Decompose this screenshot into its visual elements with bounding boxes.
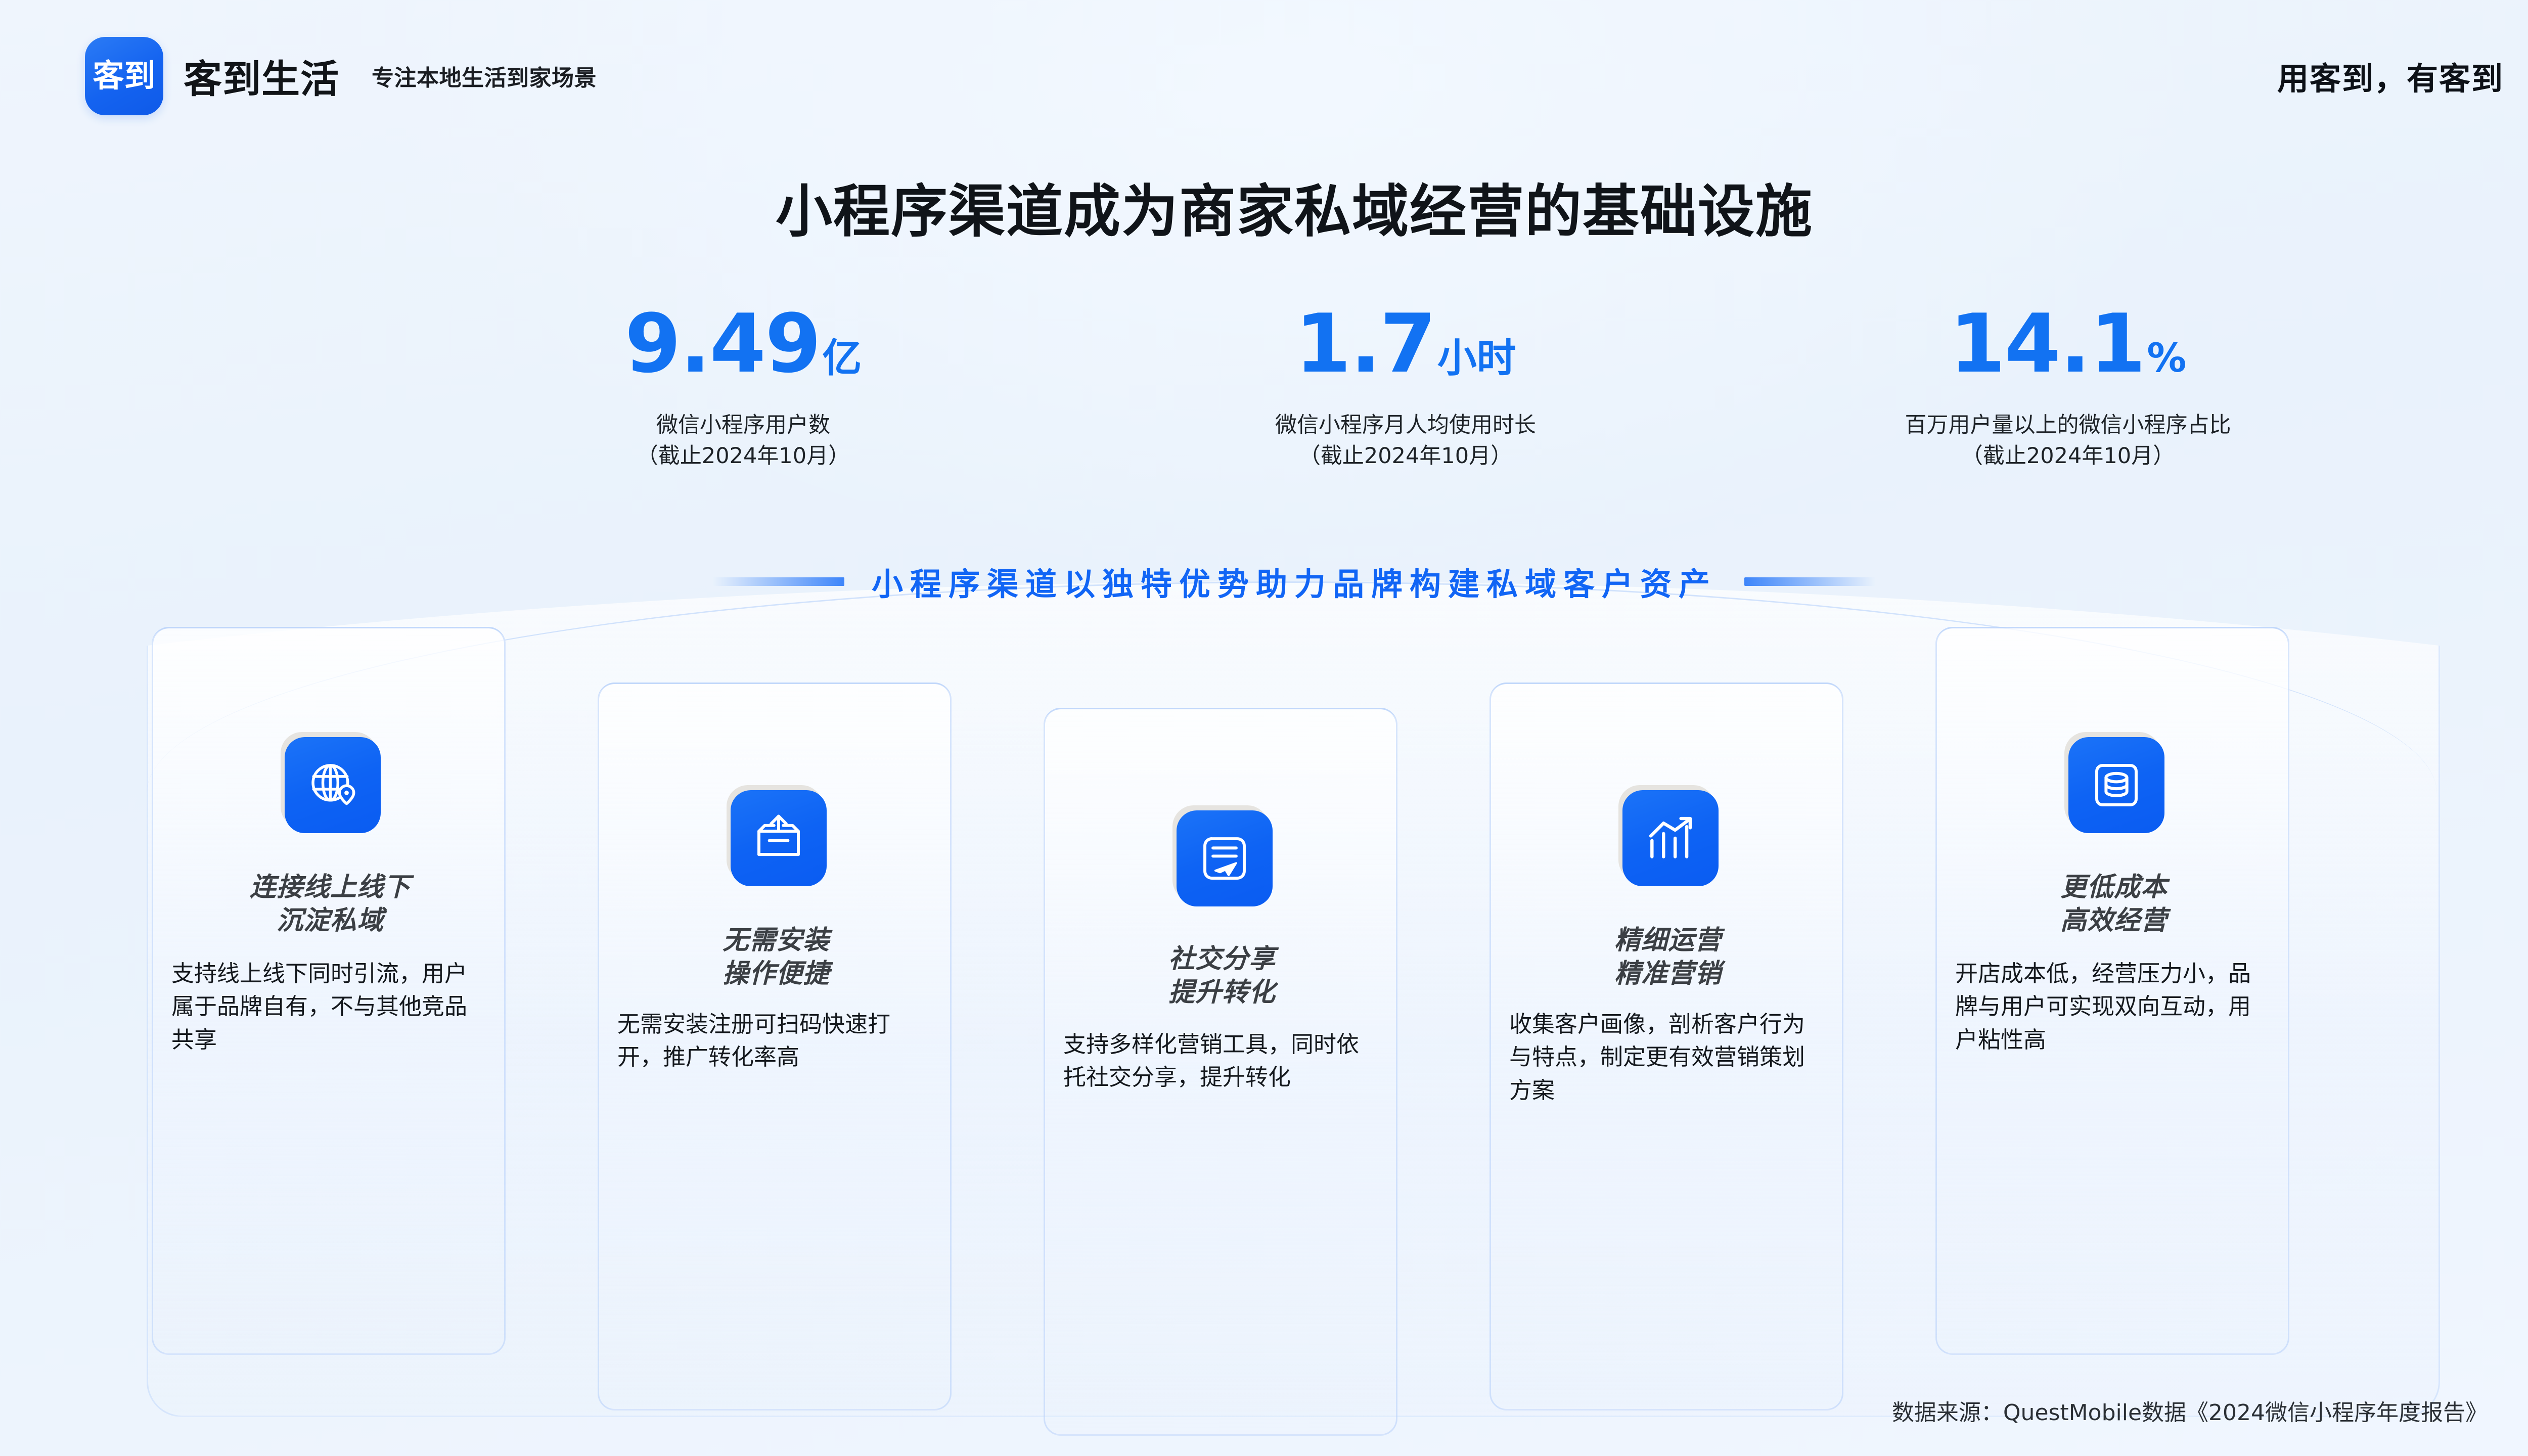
banner-rule-left-icon (713, 577, 844, 586)
feature-card[interactable]: 无需安装 操作便捷 无需安装注册可扫码快速打开，推广转化率高 (598, 682, 952, 1410)
stat-unit: 小时 (1437, 339, 1516, 378)
stat-item: 1.7 小时 微信小程序月人均使用时长 （截止2024年10月） (1107, 303, 1704, 472)
icon-shadow (2064, 732, 2160, 828)
feature-card[interactable]: 连接线上线下 沉淀私域 支持线上线下同时引流，用户属于品牌自有，不与其他竞品共享 (152, 627, 506, 1355)
card-description: 支持线上线下同时引流，用户属于品牌自有，不与其他竞品共享 (171, 957, 489, 1056)
stat-caption-line2: （截止2024年10月） (1107, 441, 1704, 472)
stat-caption: 微信小程序月人均使用时长 （截止2024年10月） (1107, 410, 1704, 472)
stat-item: 14.1 % 百万用户量以上的微信小程序占比 （截止2024年10月） (1770, 303, 2366, 472)
icon-shadow (1172, 805, 1269, 901)
stat-unit: % (2147, 339, 2186, 378)
feature-card[interactable]: 社交分享 提升转化 支持多样化营销工具，同时依托社交分享，提升转化 (1044, 708, 1397, 1436)
card-title: 无需安装 操作便捷 (599, 924, 953, 990)
card-description: 支持多样化营销工具，同时依托社交分享，提升转化 (1063, 1028, 1381, 1094)
feature-card[interactable]: 更低成本 高效经营 开店成本低，经营压力小，品牌与用户可实现双向互动，用户粘性高 (1935, 627, 2289, 1355)
card-description: 收集客户画像，剖析客户行为与特点，制定更有效营销策划方案 (1509, 1008, 1827, 1107)
stat-unit: 亿 (822, 339, 862, 378)
card-title-line2: 操作便捷 (599, 958, 953, 991)
card-title-line1: 社交分享 (1045, 943, 1399, 976)
icon-shadow (281, 732, 377, 828)
globe-location-icon (285, 737, 381, 833)
card-title-line1: 更低成本 (1937, 871, 2291, 904)
stat-caption-line2: （截止2024年10月） (445, 441, 1042, 472)
card-title-line2: 精准营销 (1491, 958, 1845, 991)
banner-rule-right-icon (1744, 577, 1876, 586)
stats-row: 9.49 亿 微信小程序用户数 （截止2024年10月） 1.7 小时 微信小程… (445, 303, 2366, 472)
stat-caption: 微信小程序用户数 （截止2024年10月） (445, 410, 1042, 472)
bar-chart-trend-icon (1622, 790, 1719, 886)
page-title: 小程序渠道成为商家私域经营的基础设施 (0, 166, 2528, 248)
section-banner: 小程序渠道以独特优势助力品牌构建私域客户资产 (0, 554, 2528, 609)
card-title: 连接线上线下 沉淀私域 (153, 871, 507, 937)
card-description: 开店成本低，经营压力小，品牌与用户可实现双向互动，用户粘性高 (1955, 957, 2273, 1056)
section-banner-title: 小程序渠道以独特优势助力品牌构建私域客户资产 (872, 559, 1717, 604)
logo-badge-label: 客到 (93, 60, 155, 92)
stat-value: 9.49 亿 (445, 303, 1042, 397)
feature-cards: 连接线上线下 沉淀私域 支持线上线下同时引流，用户属于品牌自有，不与其他竞品共享… (0, 627, 2528, 1416)
stat-caption-line1: 微信小程序月人均使用时长 (1107, 410, 1704, 441)
card-title-line2: 提升转化 (1045, 976, 1399, 1010)
card-title-line1: 精细运营 (1491, 924, 1845, 958)
card-title: 社交分享 提升转化 (1045, 943, 1399, 1009)
share-send-card-icon (1177, 810, 1273, 906)
data-source-note: 数据来源：QuestMobile数据《2024微信小程序年度报告》 (1892, 1394, 2488, 1427)
stat-item: 9.49 亿 微信小程序用户数 （截止2024年10月） (445, 303, 1042, 472)
card-title-line2: 高效经营 (1937, 904, 2291, 938)
stat-number: 14.1 (1950, 303, 2145, 384)
page-header: 客到 客到生活 专注本地生活到家场景 用客到，有客到 (0, 0, 2528, 152)
stat-value: 1.7 小时 (1107, 303, 1704, 397)
card-description: 无需安装注册可扫码快速打开，推广转化率高 (617, 1008, 935, 1074)
card-title-line1: 连接线上线下 (153, 871, 507, 904)
icon-shadow (1618, 785, 1714, 881)
card-title-line1: 无需安装 (599, 924, 953, 958)
logo-badge: 客到 (85, 37, 163, 115)
card-title: 精细运营 精准营销 (1491, 924, 1845, 990)
stat-caption-line1: 百万用户量以上的微信小程序占比 (1770, 410, 2366, 441)
stat-number: 1.7 (1295, 303, 1435, 384)
brand-slogan: 专注本地生活到家场景 (372, 60, 597, 92)
stat-caption-line1: 微信小程序用户数 (445, 410, 1042, 441)
brand-tagline: 用客到，有客到 (2277, 53, 2504, 99)
brand-name: 客到生活 (184, 48, 339, 104)
card-title: 更低成本 高效经营 (1937, 871, 2291, 937)
stat-caption-line2: （截止2024年10月） (1770, 441, 2366, 472)
feature-card[interactable]: 精细运营 精准营销 收集客户画像，剖析客户行为与特点，制定更有效营销策划方案 (1489, 682, 1843, 1410)
icon-shadow (727, 785, 823, 881)
stat-value: 14.1 % (1770, 303, 2366, 397)
database-stack-icon (2068, 737, 2164, 833)
upload-tray-icon (731, 790, 827, 886)
brand-block: 客到 客到生活 专注本地生活到家场景 (85, 37, 597, 115)
stat-number: 9.49 (625, 303, 821, 384)
stat-caption: 百万用户量以上的微信小程序占比 （截止2024年10月） (1770, 410, 2366, 472)
card-title-line2: 沉淀私域 (153, 904, 507, 938)
